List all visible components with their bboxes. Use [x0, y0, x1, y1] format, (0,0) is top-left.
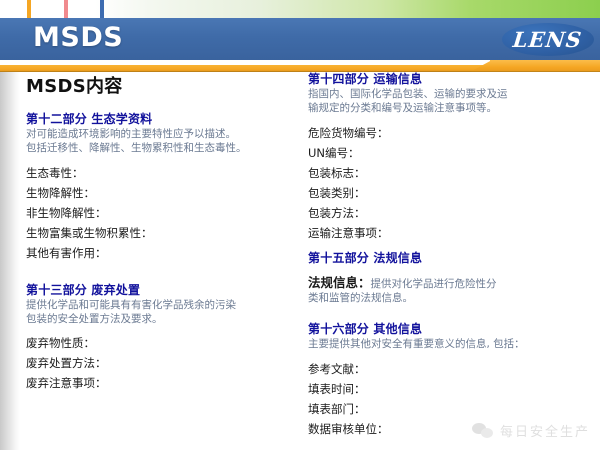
- left-column: MSDS内容 第十二部分 生态学资料 对可能造成环境影响的主要特性应予以描述。 …: [26, 72, 306, 393]
- list-item: 包装类别：: [308, 183, 600, 203]
- list-item: 包装标志：: [308, 163, 600, 183]
- strip-white-card: [0, 0, 103, 18]
- section-description: 主要提供其他对安全有重要意义的信息, 包括：: [308, 338, 600, 352]
- section-title: 第十六部分 其他信息: [308, 322, 600, 337]
- section-block: 第十四部分 运输信息 指国内、国际化学品包装、运输的要求及运 输规定的分类和编号…: [308, 72, 600, 243]
- desc-line: 主要提供其他对安全有重要意义的信息, 包括：: [308, 338, 600, 352]
- watermark: 每日安全生产: [472, 421, 590, 440]
- list-item: UN编号：: [308, 143, 600, 163]
- section-title: 第十三部分 废弃处置: [26, 283, 306, 298]
- list-item: 生态毒性：: [26, 163, 306, 183]
- section-description: 对可能造成环境影响的主要特性应予以描述。 包括迁移性、降解性、生物累积性和生态毒…: [26, 128, 306, 156]
- desc-line: 包括迁移性、降解性、生物累积性和生态毒性。: [26, 142, 306, 156]
- wechat-icon: [472, 422, 494, 440]
- section-block: 第十五部分 法规信息 法规信息：提供对化学品进行危险性分 类和监管的法规信息。: [308, 251, 600, 306]
- section-inline-paragraph: 法规信息：提供对化学品进行危险性分 类和监管的法规信息。: [308, 274, 600, 306]
- section-title: 第十四部分 运输信息: [308, 72, 600, 87]
- list-item: 填表部门：: [308, 399, 600, 419]
- section-block: 第十二部分 生态学资料 对可能造成环境影响的主要特性应予以描述。 包括迁移性、降…: [26, 112, 306, 263]
- list-item: 运输注意事项：: [308, 223, 600, 243]
- spacer: [308, 306, 600, 322]
- list-item: 废弃处置方法：: [26, 353, 306, 373]
- section-title: 第十二部分 生态学资料: [26, 112, 306, 127]
- section-title: 第十五部分 法规信息: [308, 251, 600, 266]
- top-decorative-strip: [0, 0, 600, 18]
- list-item: 生物富集或生物积累性：: [26, 223, 306, 243]
- desc-line: 包装的安全处置方法及要求。: [26, 313, 306, 327]
- section-description: 指国内、国际化学品包装、运输的要求及运 输规定的分类和编号及运输注意事项等。: [308, 88, 600, 116]
- page-title: MSDS: [33, 22, 123, 53]
- slide-content: MSDS内容 第十二部分 生态学资料 对可能造成环境影响的主要特性应予以描述。 …: [20, 72, 600, 450]
- section-item-list: 废弃物性质： 废弃处置方法： 废弃注意事项：: [26, 333, 306, 393]
- wechat-icon-bubble-small: [481, 428, 493, 438]
- desc-line: 输规定的分类和编号及运输注意事项等。: [308, 102, 600, 116]
- gold-divider-band: [0, 60, 600, 72]
- left-edge-gradient: [0, 72, 20, 450]
- content-heading: MSDS内容: [26, 72, 306, 98]
- inline-text: 提供对化学品进行危险性分: [371, 278, 497, 290]
- spacer: [308, 243, 600, 251]
- lens-logo-text: LENS: [512, 27, 584, 52]
- desc-line: 指国内、国际化学品包装、运输的要求及运: [308, 88, 600, 102]
- list-item: 废弃物性质：: [26, 333, 306, 353]
- right-column: 第十四部分 运输信息 指国内、国际化学品包装、运输的要求及运 输规定的分类和编号…: [308, 72, 600, 439]
- watermark-text: 每日安全生产: [500, 421, 590, 440]
- list-item: 包装方法：: [308, 203, 600, 223]
- section-description: 提供化学品和可能具有有害化学品残余的污染 包装的安全处置方法及要求。: [26, 299, 306, 327]
- pink-tick-icon: [64, 0, 68, 18]
- list-item: 其他有害作用：: [26, 243, 306, 263]
- inline-text: 类和监管的法规信息。: [308, 291, 600, 306]
- list-item: 废弃注意事项：: [26, 373, 306, 393]
- spacer: [26, 263, 306, 283]
- list-item: 危险货物编号：: [308, 123, 600, 143]
- section-block: 第十三部分 废弃处置 提供化学品和可能具有有害化学品残余的污染 包装的安全处置方…: [26, 283, 306, 394]
- blue-tick-icon: [100, 0, 104, 18]
- list-item: 非生物降解性：: [26, 203, 306, 223]
- orange-tick-icon: [27, 0, 31, 18]
- lens-logo: LENS: [502, 23, 594, 56]
- list-item: 生物降解性：: [26, 183, 306, 203]
- section-item-list: 生态毒性： 生物降解性： 非生物降解性： 生物富集或生物积累性： 其他有害作用：: [26, 163, 306, 263]
- desc-line: 对可能造成环境影响的主要特性应予以描述。: [26, 128, 306, 142]
- list-item: 填表时间：: [308, 379, 600, 399]
- section-item-list: 危险货物编号： UN编号： 包装标志： 包装类别： 包装方法： 运输注意事项：: [308, 123, 600, 243]
- inline-label: 法规信息：: [308, 275, 371, 290]
- header-banner: MSDS LENS: [0, 18, 600, 60]
- desc-line: 提供化学品和可能具有有害化学品残余的污染: [26, 299, 306, 313]
- list-item: 参考文献：: [308, 359, 600, 379]
